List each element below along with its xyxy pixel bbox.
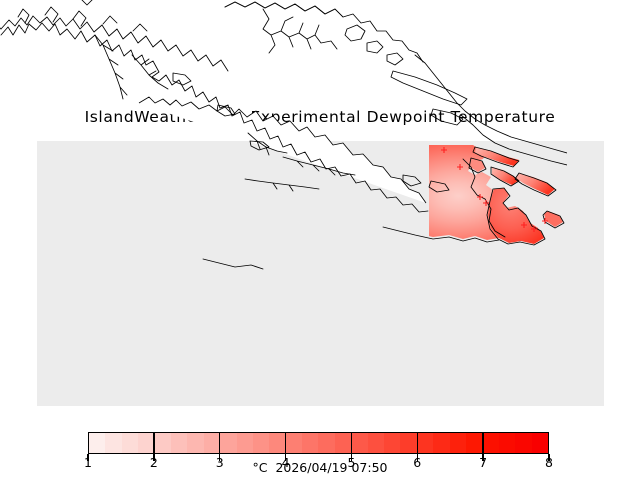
fjord-group-mid xyxy=(132,55,168,89)
colorbar-divider xyxy=(153,432,154,454)
colorbar-band xyxy=(171,433,187,453)
colorbar-band xyxy=(450,433,466,453)
colorbar-band xyxy=(89,433,105,453)
colorbar-band xyxy=(466,433,482,453)
colorbar-band xyxy=(286,433,302,453)
desolation-sound-islands xyxy=(345,25,403,65)
mainland-coast-northeast xyxy=(225,2,423,62)
colorbar-gradient xyxy=(88,432,549,454)
colorbar-divider xyxy=(417,432,418,454)
north-mainland-coast xyxy=(1,16,228,71)
screenshot-root: IslandWeather.ca -- Experimental Dewpoin… xyxy=(0,0,640,480)
small-islet-a xyxy=(173,73,191,85)
colorbar-band xyxy=(532,433,548,453)
colorbar-divider xyxy=(351,432,352,454)
colorbar-divider xyxy=(219,432,220,454)
colorbar-band xyxy=(302,433,318,453)
northwest-fjord-cluster xyxy=(18,7,147,31)
colorbar-divider xyxy=(285,432,286,454)
colorbar-band xyxy=(515,433,531,453)
colorbar-band xyxy=(269,433,285,453)
colorbar-band xyxy=(220,433,236,453)
colorbar-band xyxy=(253,433,269,453)
colorbar-band xyxy=(122,433,138,453)
weather-map-panel[interactable] xyxy=(37,141,604,406)
colorbar-band xyxy=(138,433,154,453)
colorbar-band xyxy=(417,433,433,453)
colorbar-band xyxy=(482,433,498,453)
colorbar-divider xyxy=(482,432,483,454)
colorbar-band xyxy=(368,433,384,453)
islet-above-panel xyxy=(81,0,93,5)
colorbar-band xyxy=(351,433,367,453)
colorbar-caption: °C 2026/04/19 07:50 xyxy=(0,460,640,475)
colorbar-band xyxy=(335,433,351,453)
colorbar-band xyxy=(318,433,334,453)
colorbar-band xyxy=(105,433,121,453)
colorbar-band xyxy=(204,433,220,453)
coast-above-panel xyxy=(225,2,343,17)
colorbar-band xyxy=(187,433,203,453)
colorbar-band xyxy=(400,433,416,453)
colorbar[interactable] xyxy=(88,432,549,454)
mainland-inlet-cluster xyxy=(263,9,337,53)
fjord-group-west xyxy=(95,35,127,99)
colorbar-band xyxy=(499,433,515,453)
texada-island xyxy=(391,71,467,105)
coast-left-of-panel xyxy=(0,21,1,29)
mainland-southeast-shore xyxy=(415,55,567,153)
colorbar-band xyxy=(384,433,400,453)
colorbar-band xyxy=(155,433,171,453)
colorbar-band xyxy=(237,433,253,453)
page-title: IslandWeather.ca -- Experimental Dewpoin… xyxy=(0,108,640,126)
colorbar-band xyxy=(433,433,449,453)
